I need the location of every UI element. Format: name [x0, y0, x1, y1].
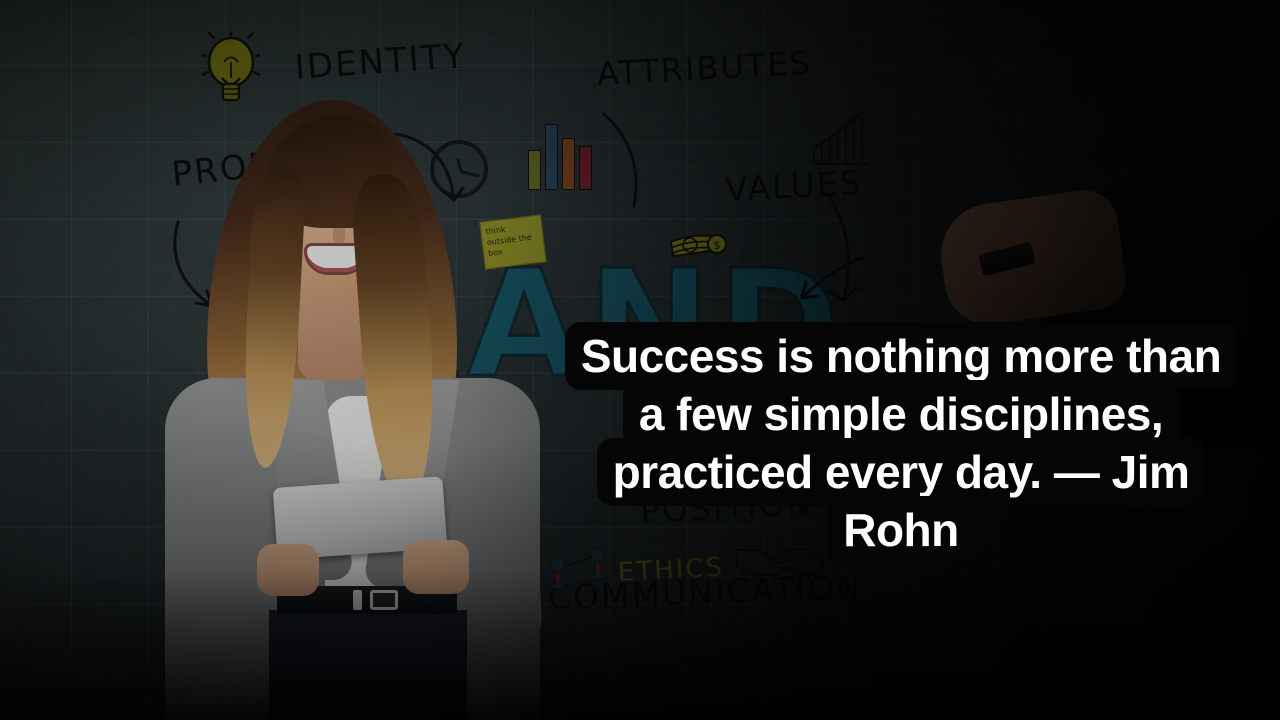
quote-line-2-text: a few simple disciplines, [625, 382, 1177, 446]
belt-buckle [370, 590, 398, 610]
quote-line: practiced every day. — Jim [545, 443, 1257, 501]
businesswoman-subject [165, 78, 540, 720]
growth-chart-icon [812, 108, 874, 166]
quote-line: Success is nothing more than [545, 327, 1257, 385]
quote-overlay: Success is nothing more than a few simpl… [545, 327, 1257, 559]
quote-line: a few simple disciplines, [545, 385, 1257, 443]
man-head [1145, 0, 1280, 105]
arrow-icon [790, 252, 870, 317]
arrow-icon [600, 110, 666, 225]
svg-text:$: $ [714, 239, 721, 252]
skirt [269, 610, 467, 720]
quote-graphic: BRAND IDENTITY ATTRIBUTES PROD VALUES PO… [0, 0, 1280, 720]
hand-right [403, 540, 469, 594]
sketch-word-attributes: ATTRIBUTES [596, 44, 813, 93]
belt-keeper [353, 590, 362, 610]
quote-line-3-text: practiced every day. — Jim [599, 440, 1204, 504]
quote-line-1-text: Success is nothing more than [567, 324, 1235, 388]
quote-line: Rohn [545, 501, 1257, 559]
bar-chart-icon [528, 118, 608, 190]
quote-line-4-text: Rohn [829, 498, 973, 562]
cash-stack-icon: $ [668, 228, 732, 268]
hand-left [257, 544, 319, 596]
